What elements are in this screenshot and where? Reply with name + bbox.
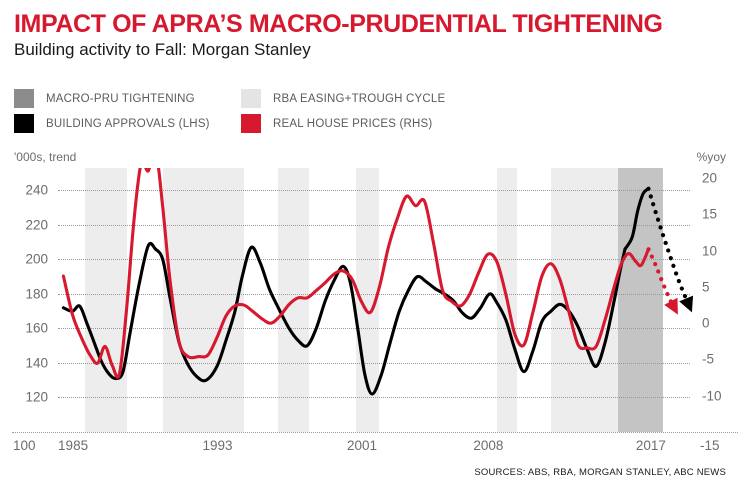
left-axis-tick-140: 140 [25,355,48,370]
legend-swatch-macro-pru [14,89,34,108]
page-subtitle: Building activity to Fall: Morgan Stanle… [14,40,311,60]
x-axis-line [12,432,738,433]
x-axis-tick-2001: 2001 [347,438,377,453]
right-axis-tick-5: 5 [702,279,710,294]
left-axis-tick-180: 180 [25,286,48,301]
legend-item-macro-pru: MACRO-PRU TIGHTENING [14,89,241,108]
left-axis-bottom-label: 100 [13,438,36,453]
left-axis-tick-220: 220 [25,217,48,232]
legend-item-building-approvals: BUILDING APPROVALS (LHS) [14,114,241,133]
legend-label-macro-pru: MACRO-PRU TIGHTENING [46,93,195,105]
sources-note: SOURCES: ABS, RBA, MORGAN STANLEY, ABC N… [474,467,726,478]
left-axis-tick-160: 160 [25,321,48,336]
x-axis-tick-2008: 2008 [473,438,503,453]
legend-row-1: MACRO-PRU TIGHTENING RBA EASING+TROUGH C… [14,86,534,111]
right-axis-unit-label: %yoy [697,150,726,164]
x-axis-tick-1985: 1985 [58,438,88,453]
left-axis-tick-120: 120 [25,390,48,405]
legend-swatch-building-approvals [14,114,34,133]
forecast-arrowhead-2 [679,296,693,313]
legend-item-rba-easing: RBA EASING+TROUGH CYCLE [241,89,445,108]
legend-swatch-real-house-prices [241,114,261,133]
left-axis-tick-240: 240 [25,183,48,198]
legend-label-rba-easing: RBA EASING+TROUGH CYCLE [273,93,445,105]
right-axis-bottom-label: -15 [700,438,720,453]
series-line-3 [63,148,648,377]
series-layer [58,168,690,432]
legend-swatch-rba-easing [241,89,261,108]
right-axis-tick--10: -10 [702,388,722,403]
right-axis-tick-0: 0 [702,316,710,331]
legend-item-real-house-prices: REAL HOUSE PRICES (RHS) [241,114,432,133]
legend-label-real-house-prices: REAL HOUSE PRICES (RHS) [273,118,432,130]
x-axis-tick-1993: 1993 [203,438,233,453]
right-axis-tick-20: 20 [702,171,717,186]
legend-label-building-approvals: BUILDING APPROVALS (LHS) [46,118,210,130]
series-line-2 [648,189,690,308]
chart-page: IMPACT OF APRA’S MACRO-PRUDENTIAL TIGHTE… [0,0,740,497]
chart-plot-area: 120140160180200220240 -10-505101520 1985… [58,168,690,432]
right-axis-tick-10: 10 [702,243,717,258]
left-axis-unit-label: '000s, trend [14,150,76,164]
series-line-1 [625,189,648,249]
page-title: IMPACT OF APRA’S MACRO-PRUDENTIAL TIGHTE… [14,10,663,39]
x-axis-tick-2017: 2017 [636,438,666,453]
chart-legend: MACRO-PRU TIGHTENING RBA EASING+TROUGH C… [14,86,534,136]
series-line-0 [63,243,625,394]
right-axis-tick-15: 15 [702,207,717,222]
right-axis-tick--5: -5 [702,352,714,367]
left-axis-tick-200: 200 [25,252,48,267]
legend-row-2: BUILDING APPROVALS (LHS) REAL HOUSE PRIC… [14,111,534,136]
